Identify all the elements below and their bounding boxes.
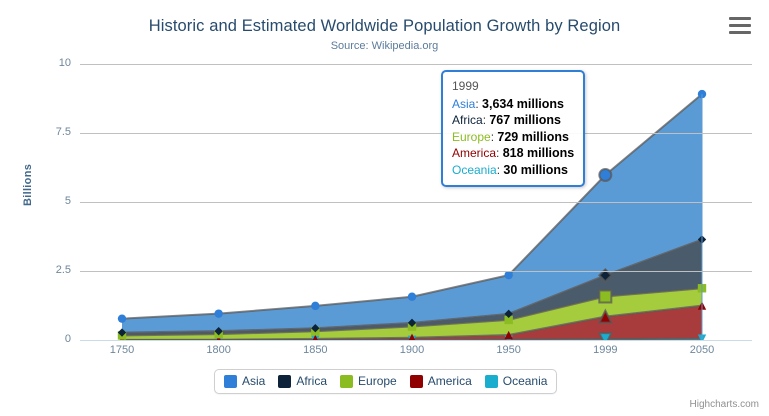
tooltip-series-name: Asia [452,97,475,111]
y-gridline [80,64,752,65]
tooltip-series-name: Oceania [452,163,497,177]
highcharts-container: Historic and Estimated Worldwide Populat… [0,0,769,416]
y-axis-tick-label: 10 [59,57,71,69]
legend-swatch-icon [278,375,291,388]
y-axis-tick-label: 0 [65,333,71,345]
x-axis-tick-label: 1950 [479,344,539,356]
marker-asia-1750[interactable] [118,314,126,322]
tooltip-series-value: 729 millions [497,130,569,144]
x-axis-tick-label: 2050 [672,344,732,356]
tooltip-series-name: America [452,146,496,160]
menu-bar-2 [729,24,751,27]
tooltip-row: Asia: 3,634 millions [452,96,574,113]
tooltip-row: Oceania: 30 millions [452,162,574,179]
legend-swatch-icon [224,375,237,388]
tooltip-separator: : [475,97,482,111]
marker-asia-1850[interactable] [311,302,319,310]
highcharts-credit[interactable]: Highcharts.com [690,399,759,410]
x-axis-tick-label: 1850 [285,344,345,356]
x-axis-tick-label: 1750 [92,344,152,356]
marker-asia-1999[interactable] [599,169,611,181]
y-gridline [80,133,752,134]
tooltip-separator: : [496,146,503,160]
y-axis-tick-label: 2.5 [56,264,71,276]
chart-legend: AsiaAfricaEuropeAmericaOceania [214,369,557,394]
marker-oceania-1999[interactable] [599,333,611,340]
tooltip-row: Europe: 729 millions [452,129,574,146]
legend-item-europe[interactable]: Europe [340,374,397,388]
legend-item-africa[interactable]: Africa [278,374,327,388]
marker-europe-1999[interactable] [599,290,611,302]
menu-bar-1 [729,17,751,20]
x-axis-tick-label: 1999 [575,344,635,356]
tooltip-series-value: 767 millions [489,113,561,127]
y-gridline [80,202,752,203]
tooltip-series-value: 818 millions [503,146,575,160]
chart-subtitle: Source: Wikipedia.org [0,40,769,52]
marker-asia-1950[interactable] [504,271,512,279]
menu-bar-3 [729,31,751,34]
tooltip-series-name: Europe [452,130,491,144]
tooltip-row: Africa: 767 millions [452,112,574,129]
legend-label: Europe [358,374,397,388]
legend-swatch-icon [485,375,498,388]
tooltip-series-value: 30 millions [503,163,568,177]
y-axis-tick-label: 5 [65,195,71,207]
chart-title: Historic and Estimated Worldwide Populat… [0,17,769,36]
marker-asia-1800[interactable] [214,309,222,317]
hamburger-menu-icon[interactable] [729,17,751,37]
tooltip-row: America: 818 millions [452,145,574,162]
plot-area [80,64,752,340]
tooltip-header: 1999 [452,78,574,96]
legend-label: Asia [242,374,265,388]
legend-swatch-icon [410,375,423,388]
tooltip: 1999 Asia: 3,634 millionsAfrica: 767 mil… [441,70,585,187]
y-axis-tick-label: 7.5 [56,126,71,138]
y-gridline [80,271,752,272]
legend-item-asia[interactable]: Asia [224,374,265,388]
x-axis-tick-label: 1800 [189,344,249,356]
y-gridline [80,340,752,341]
legend-label: America [428,374,472,388]
x-axis-tick-label: 1900 [382,344,442,356]
legend-item-oceania[interactable]: Oceania [485,374,548,388]
legend-item-america[interactable]: America [410,374,472,388]
legend-label: Oceania [503,374,548,388]
tooltip-rows: Asia: 3,634 millionsAfrica: 767 millions… [452,96,574,179]
legend-swatch-icon [340,375,353,388]
y-axis-title: Billions [22,164,34,206]
legend-label: Africa [296,374,327,388]
marker-asia-1900[interactable] [408,293,416,301]
tooltip-series-name: Africa [452,113,483,127]
tooltip-series-value: 3,634 millions [482,97,564,111]
